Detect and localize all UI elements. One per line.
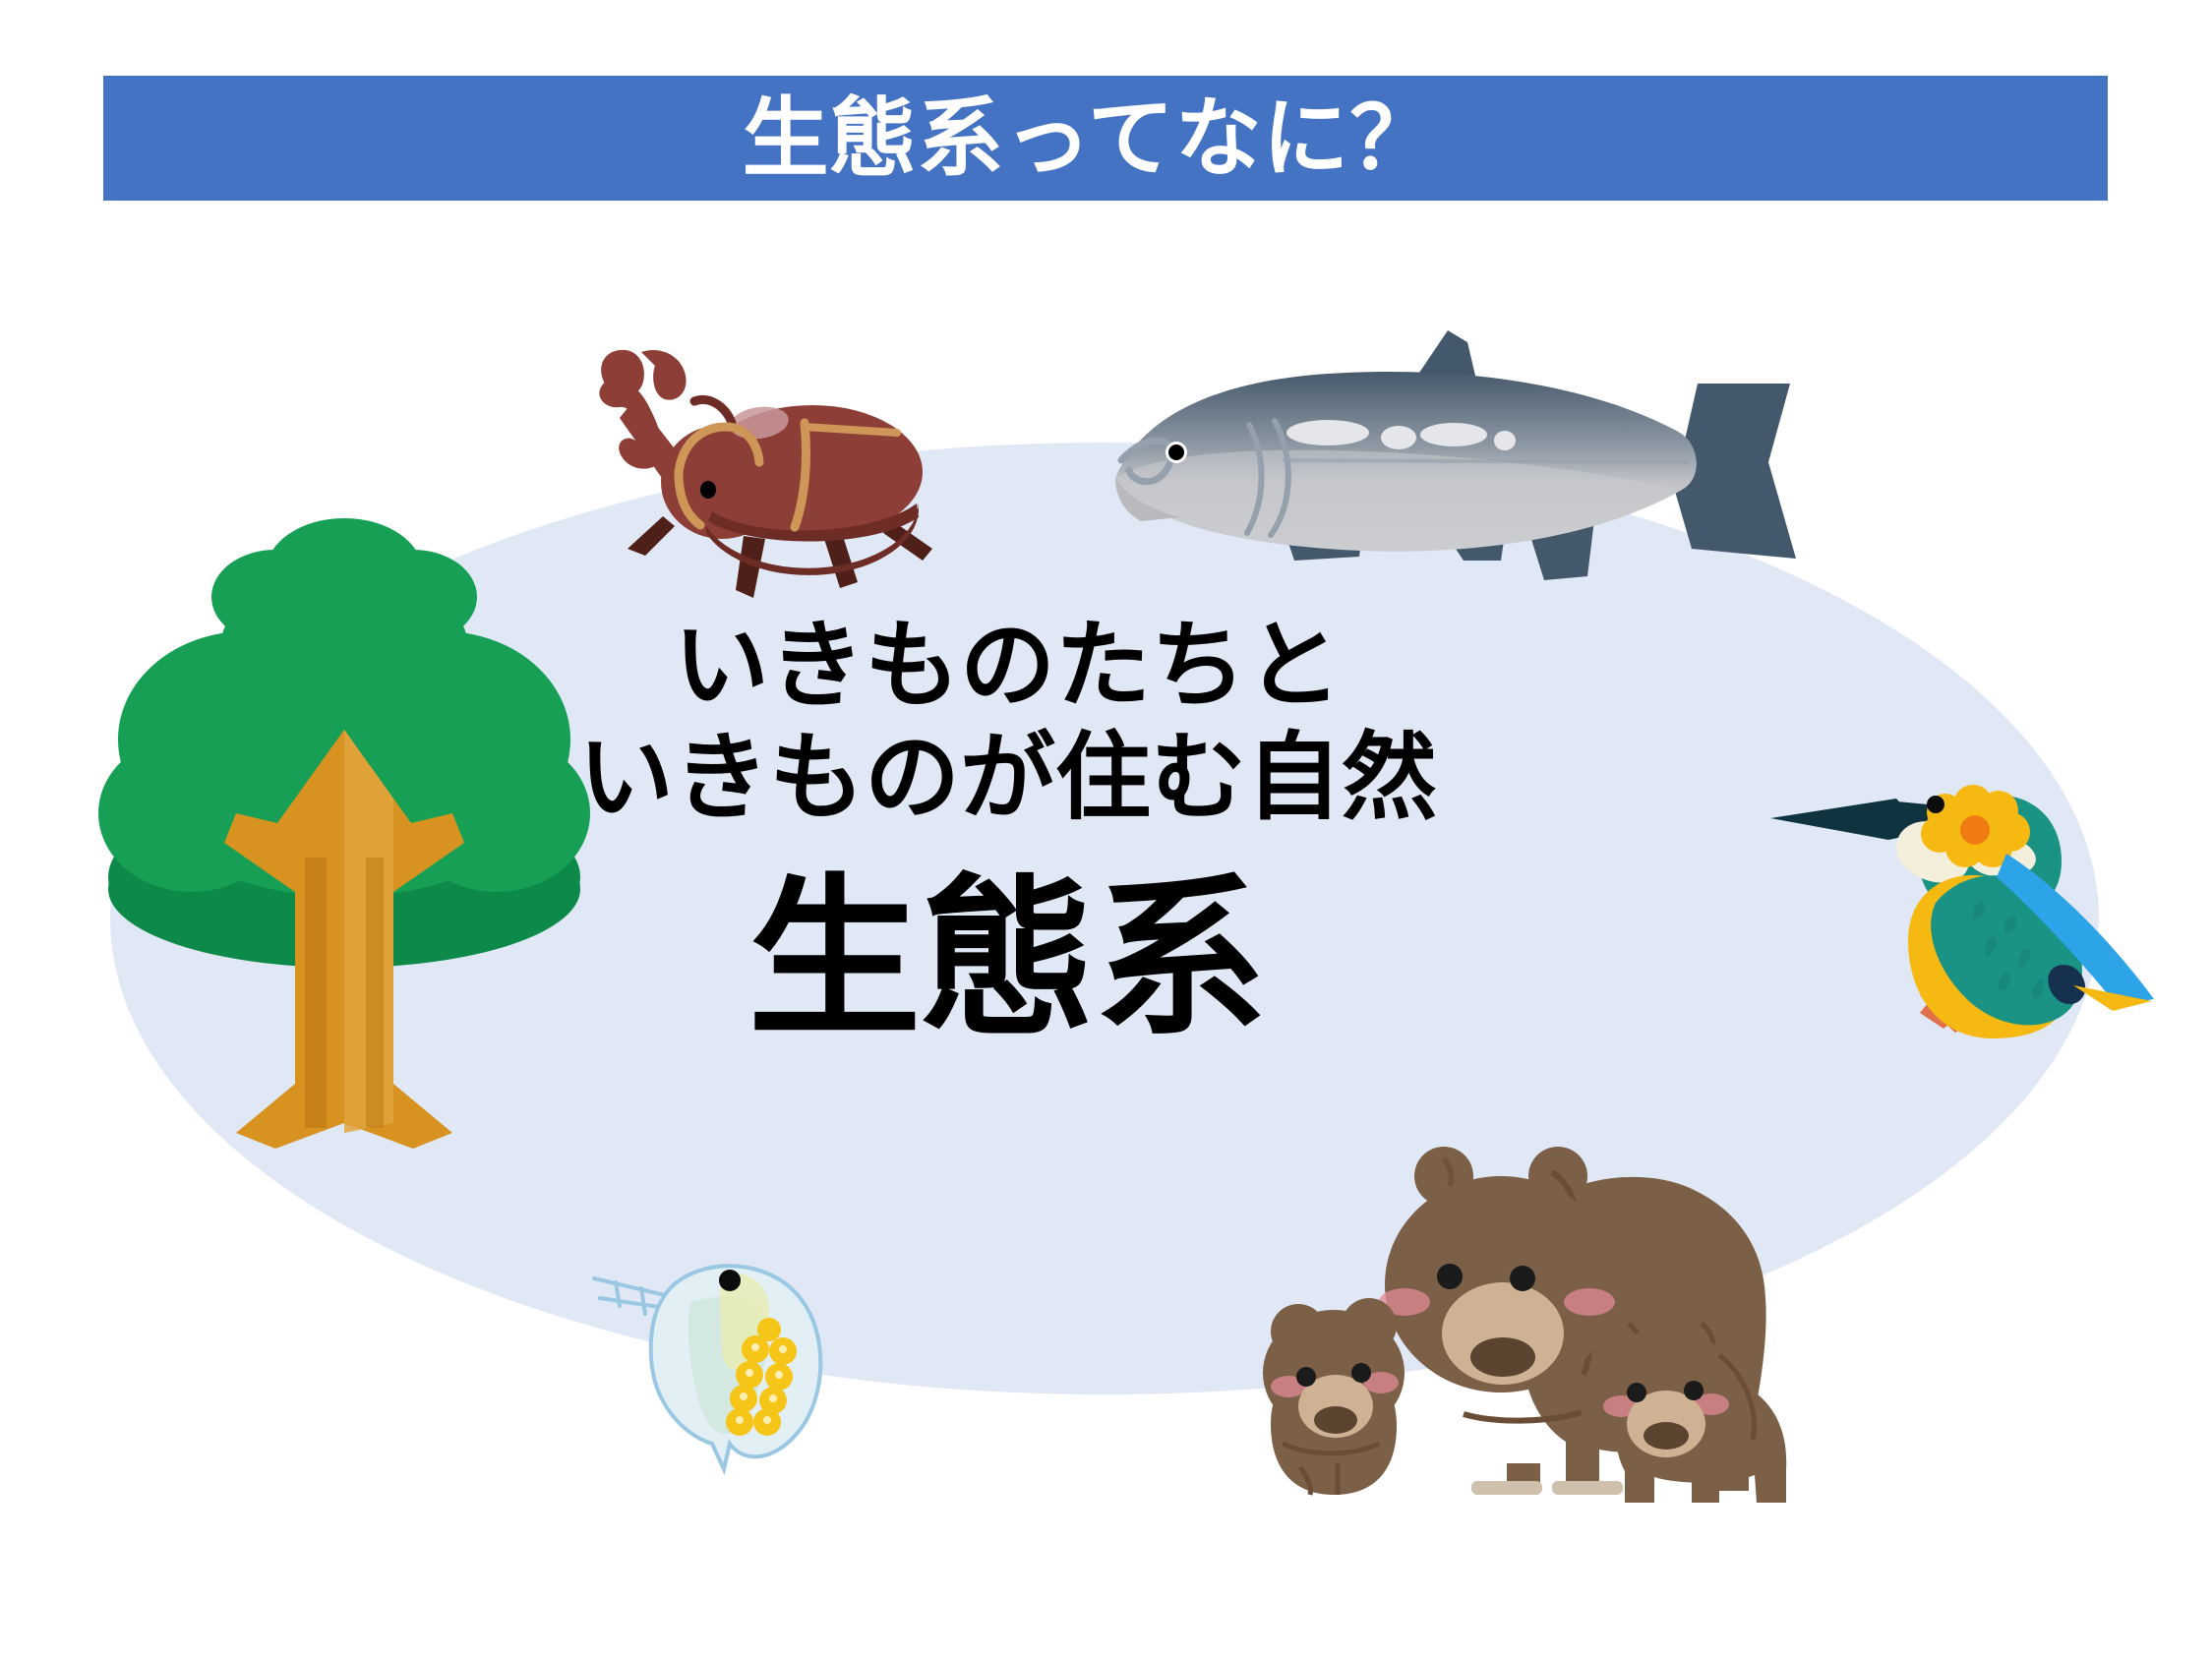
definition-line-2: いきものが住む自然 [0,722,2114,834]
slide-canvas: 生態系ってなに？ [0,0,2212,1659]
mother-bear-mouth [1470,1337,1535,1377]
beetle-eye [700,481,716,499]
right-cub-eye-left [1627,1383,1646,1402]
mother-bear-eye-left [1437,1264,1463,1289]
rhinoceros-beetle-illustration [576,325,950,610]
definition-line-1: いきものたちと [0,610,2114,722]
daphnia-plankton-illustration [586,1241,852,1497]
daphnia-eye [719,1270,741,1291]
salmon-eye [1168,444,1184,460]
page-title: 生態系ってなに？ [743,95,1438,182]
brown-bear-family-illustration [1257,1129,1808,1542]
left-cub-eye-right [1351,1363,1371,1383]
mother-bear-eye-right [1510,1266,1535,1291]
right-cub-mouth [1644,1422,1689,1450]
left-cub-eye-left [1296,1367,1316,1387]
beetle-body [661,399,923,575]
ecosystem-term: 生態系 [0,860,2114,1059]
left-cub [1263,1298,1405,1495]
left-cub-mouth [1314,1406,1357,1434]
title-banner: 生態系ってなに？ [103,76,2108,201]
right-cub-eye-right [1684,1381,1704,1400]
definition-text-block: いきものたちと いきものが住む自然 生態系 [0,610,2114,1059]
salmon-fish-illustration [1102,313,1820,598]
